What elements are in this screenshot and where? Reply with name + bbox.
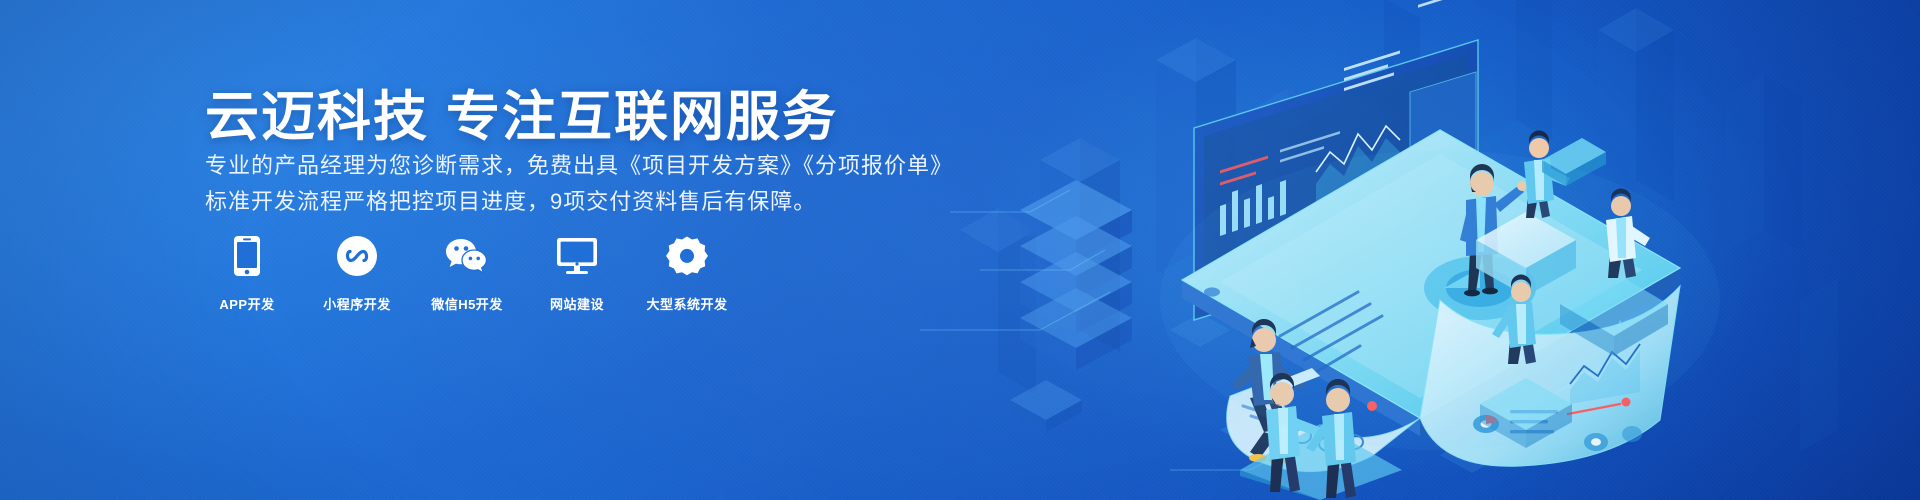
service-label: 大型系统开发 [646, 294, 727, 313]
wechat-icon [445, 232, 489, 280]
mini-program-icon [335, 232, 379, 280]
hero-banner: 云迈科技 专注互联网服务 专业的产品经理为您诊断需求，免费出具《项目开发方案》《… [0, 0, 1920, 500]
service-label: 小程序开发 [323, 294, 391, 313]
gear-icon [665, 232, 709, 280]
service-item-miniprogram[interactable]: 小程序开发 [315, 232, 399, 313]
service-label: 微信H5开发 [431, 294, 503, 313]
service-label: 网站建设 [550, 294, 604, 313]
service-label: APP开发 [219, 294, 274, 313]
monitor-icon [555, 232, 599, 280]
subtitle-line-2: 标准开发流程严格把控项目进度，9项交付资料售后有保障。 [205, 184, 816, 216]
banner-content: 云迈科技 专注互联网服务 专业的产品经理为您诊断需求，免费出具《项目开发方案》《… [0, 0, 960, 500]
service-item-wechat[interactable]: 微信H5开发 [425, 232, 509, 313]
service-list: APP开发 小程序开发 [205, 232, 729, 313]
service-item-app[interactable]: APP开发 [205, 232, 289, 313]
service-item-system[interactable]: 大型系统开发 [645, 232, 729, 313]
page-title: 云迈科技 专注互联网服务 [205, 72, 838, 151]
subtitle-line-1: 专业的产品经理为您诊断需求，免费出具《项目开发方案》《分项报价单》 [205, 148, 953, 180]
mobile-phone-icon [225, 232, 269, 280]
service-item-website[interactable]: 网站建设 [535, 232, 619, 313]
isometric-tech-illustration [920, 0, 1920, 500]
